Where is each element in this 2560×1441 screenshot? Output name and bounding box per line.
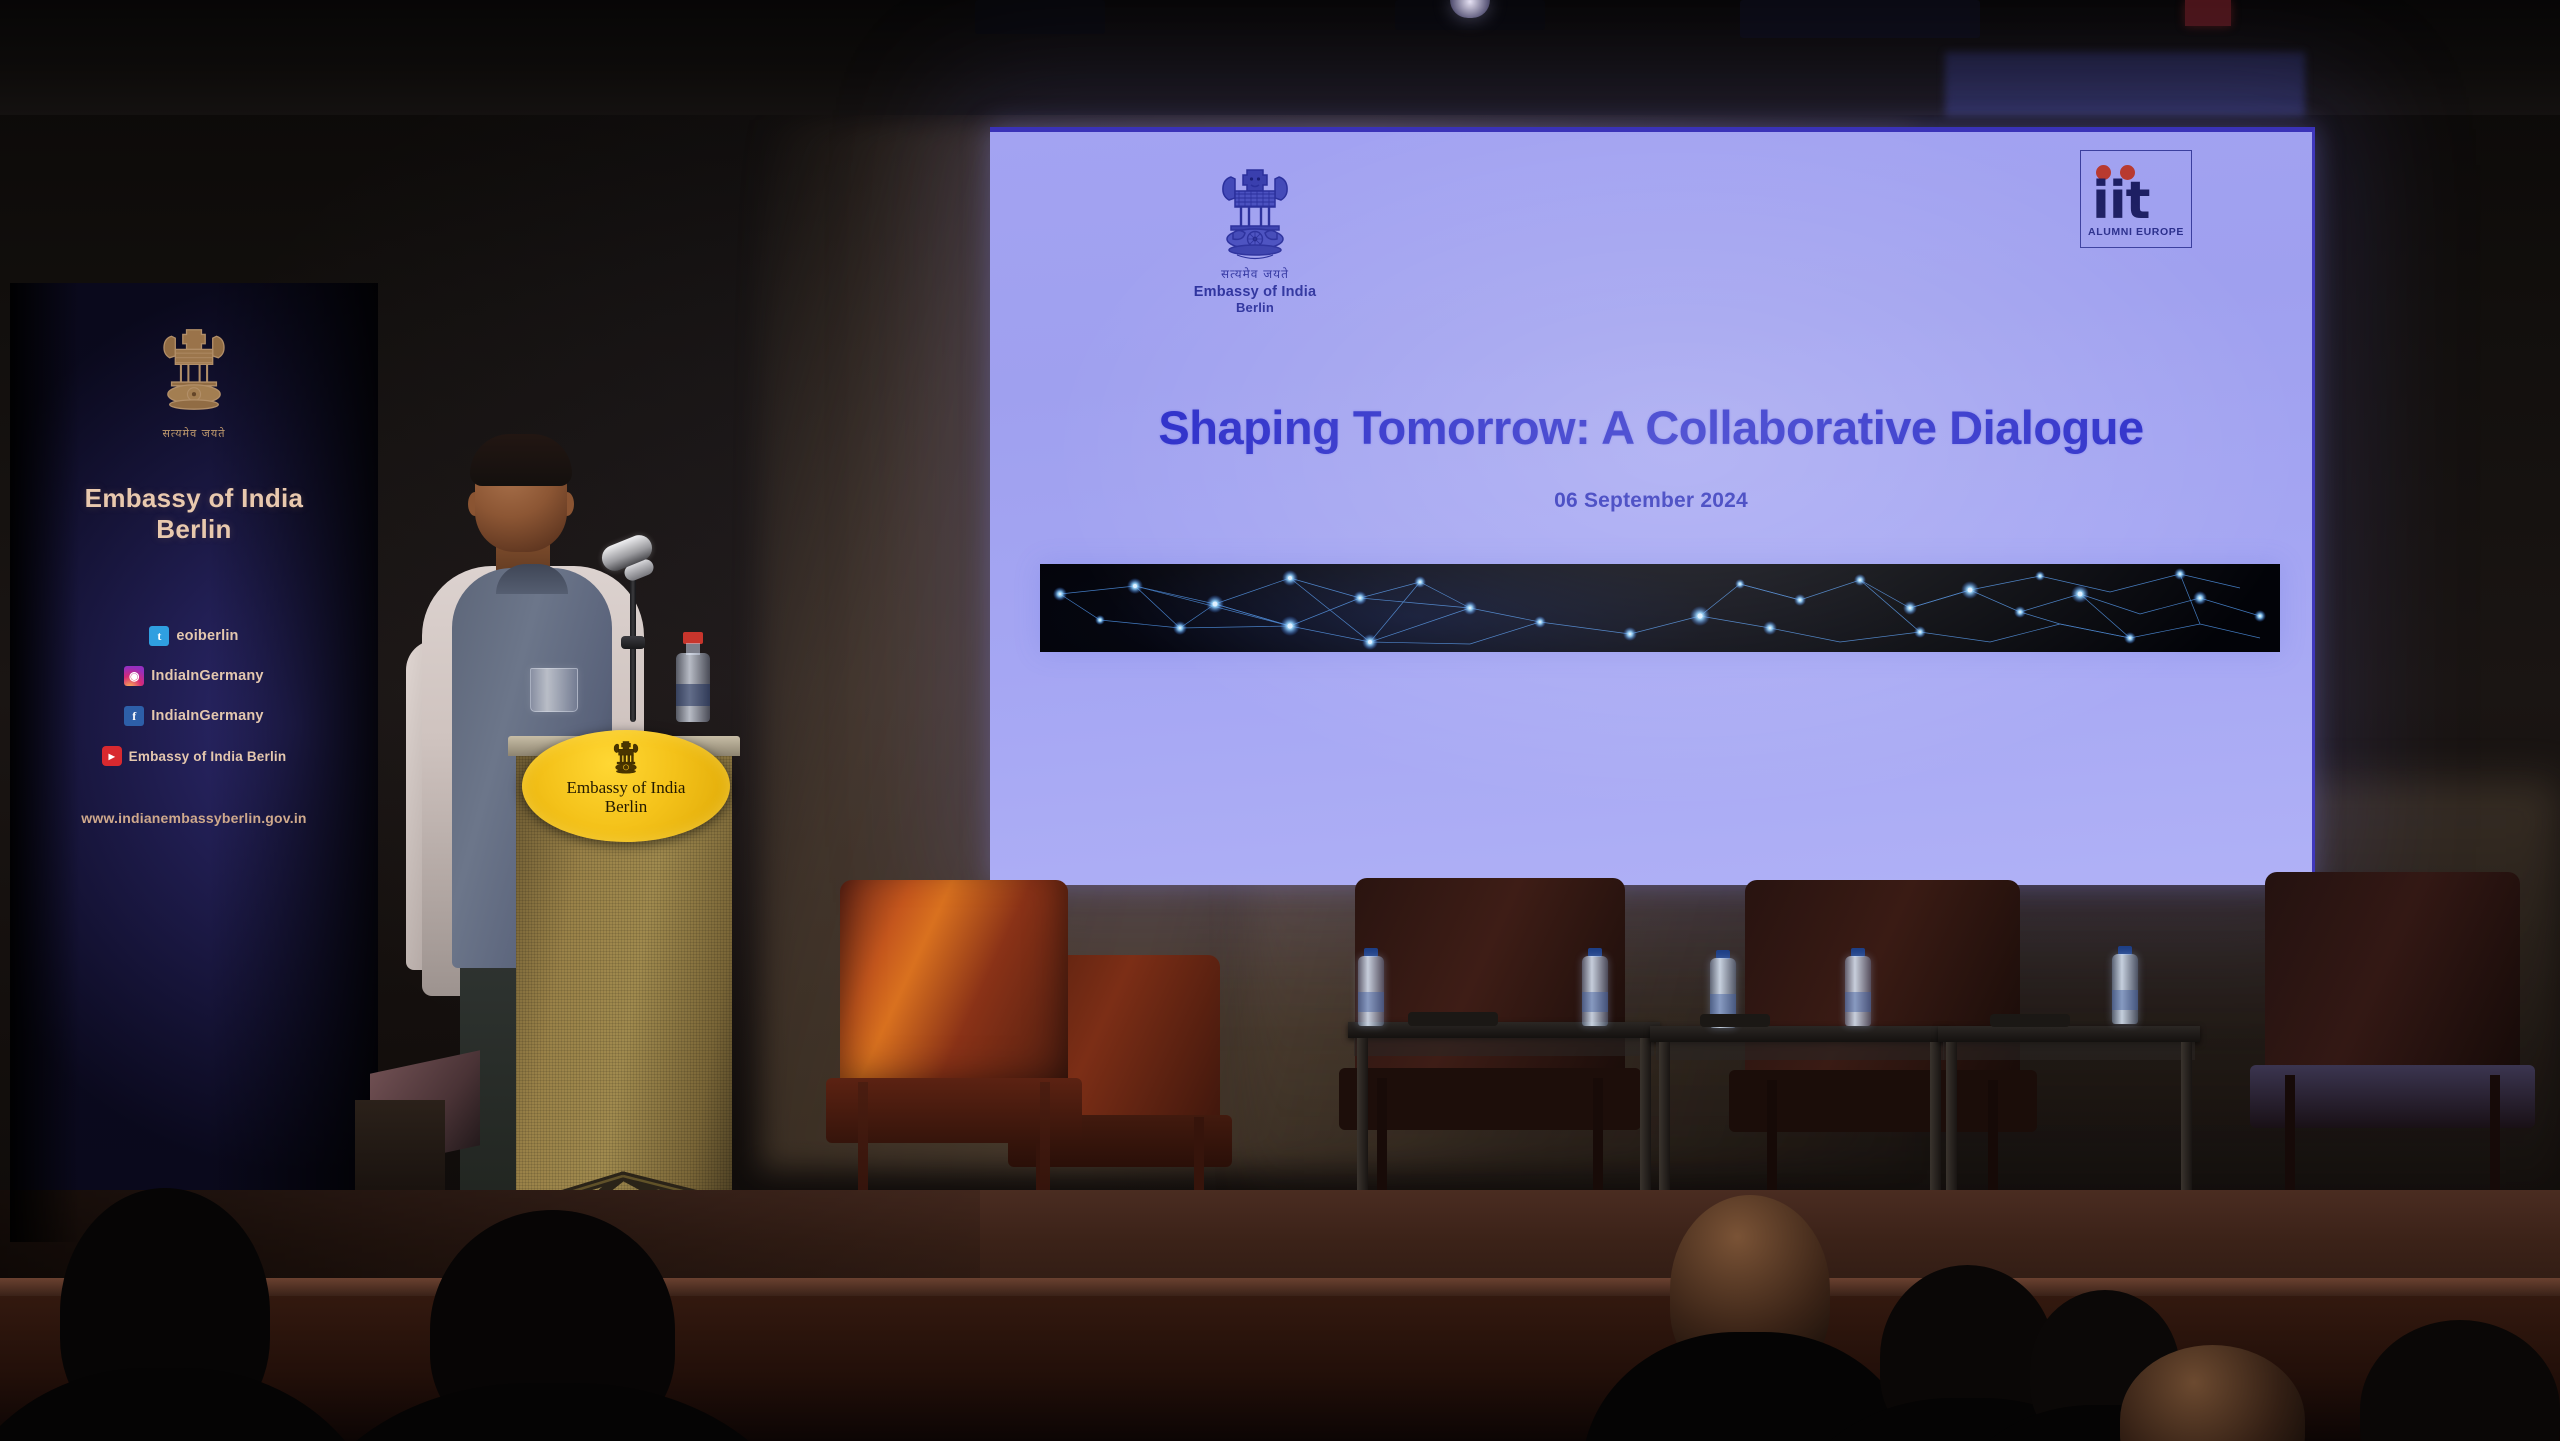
- iit-alumni-europe-logo: iit ALUMNI EUROPE: [2080, 150, 2192, 248]
- slide-title: Shaping Tomorrow: A Collaborative Dialog…: [990, 400, 2312, 455]
- slide-emblem-line1: Embassy of India: [1170, 284, 1340, 300]
- bottle-body: [1582, 956, 1608, 1026]
- table-item: [1700, 1014, 1770, 1027]
- bottle-label: [1710, 994, 1736, 1014]
- bottle-body: [2112, 954, 2138, 1024]
- stage-chair-highlighted: [840, 880, 1068, 1240]
- rollup-emblem-motto: सत्यमेव जयते: [10, 426, 378, 441]
- social-row-facebook: f IndiaInGermany: [124, 706, 263, 726]
- twitter-icon: t: [149, 626, 169, 646]
- ceiling-blue-panel: [1945, 52, 2305, 116]
- exit-light-icon: [2185, 0, 2231, 26]
- youtube-icon: ▶: [102, 746, 122, 766]
- plaque-line1: Embassy of India: [567, 778, 686, 798]
- bottle-label: [1582, 992, 1608, 1012]
- slide-emblem: सत्यमेव जयते Embassy of India Berlin: [1170, 160, 1340, 315]
- audience-silhouette: [1880, 1265, 2055, 1441]
- social-row-youtube: ▶ Embassy of India Berlin: [102, 746, 287, 766]
- table-item: [1408, 1012, 1498, 1026]
- water-bottle: [2112, 946, 2138, 1024]
- bottle-label: [2112, 990, 2138, 1010]
- social-handle-twitter: eoiberlin: [176, 628, 238, 644]
- rollup-title-line1: Embassy of India: [10, 483, 378, 514]
- iit-letters: iit: [2092, 178, 2150, 225]
- facebook-icon: f: [124, 706, 144, 726]
- chair-back: [840, 880, 1068, 1103]
- speaker-hair: [470, 434, 572, 486]
- panel-table: [1348, 1022, 1660, 1217]
- social-handle-youtube: Embassy of India Berlin: [129, 749, 287, 764]
- embassy-rollup-banner: सत्यमेव जयते Embassy of India Berlin t e…: [10, 283, 378, 1242]
- ashoka-lion-capital-icon: [609, 737, 643, 777]
- slide-date: 06 September 2024: [990, 489, 2312, 513]
- table-top: [1348, 1022, 1660, 1038]
- audience-silhouette: [430, 1210, 675, 1441]
- social-handle-facebook: IndiaInGermany: [151, 708, 263, 724]
- social-handle-instagram: IndiaInGermany: [151, 668, 263, 684]
- social-row-instagram: ◉ IndiaInGermany: [124, 666, 263, 686]
- table-top: [1650, 1026, 1950, 1042]
- table-item: [1990, 1014, 2070, 1027]
- table-top: [1938, 1026, 2200, 1042]
- panel-table: [1938, 1026, 2200, 1214]
- auditorium-scene: सत्यमेव जयते Embassy of India Berlin iit…: [0, 0, 2560, 1441]
- iit-wordmark: iit: [2092, 165, 2180, 225]
- table-apron: [1354, 1038, 1654, 1056]
- stage-chair: [2265, 872, 2520, 1222]
- audience-silhouette: [1670, 1195, 1830, 1385]
- microphone-clip: [621, 636, 645, 649]
- lectern: Embassy of India Berlin: [508, 692, 740, 1197]
- slide-emblem-line2: Berlin: [1170, 300, 1340, 315]
- projection-screen: सत्यमेव जयते Embassy of India Berlin iit…: [990, 127, 2315, 885]
- ashoka-lion-capital-icon: [151, 319, 237, 419]
- table-apron: [1943, 1042, 2195, 1060]
- bottle-label: [1358, 992, 1384, 1012]
- rollup-title-line2: Berlin: [10, 514, 378, 545]
- bottle-label: [1845, 992, 1871, 1012]
- bottle-body: [1845, 956, 1871, 1026]
- water-bottle: [1845, 948, 1871, 1026]
- chair-back: [2265, 872, 2520, 1089]
- lectern-plaque: Embassy of India Berlin: [522, 730, 730, 842]
- rollup-social-list: t eoiberlin ◉ IndiaInGermany f IndiaInGe…: [10, 626, 378, 766]
- plaque-line2: Berlin: [605, 798, 648, 815]
- table-apron: [1656, 1042, 1944, 1060]
- social-row-twitter: t eoiberlin: [149, 626, 238, 646]
- rollup-title: Embassy of India Berlin: [10, 483, 378, 544]
- slide-network-graphic: [1040, 564, 2280, 652]
- audience-silhouette: [60, 1188, 270, 1438]
- bottle-body: [1358, 956, 1384, 1026]
- ashoka-lion-capital-icon: [1209, 160, 1301, 264]
- ceiling-rig-fixture: [975, 0, 1105, 34]
- water-bottle: [1358, 948, 1384, 1026]
- rollup-website-url: www.indianembassyberlin.gov.in: [10, 810, 378, 826]
- ceiling-rig-fixture: [1740, 0, 1980, 38]
- instagram-icon: ◉: [124, 666, 144, 686]
- emblem-motto: सत्यमेव जयते: [1170, 265, 1340, 282]
- panel-table: [1650, 1026, 1950, 1216]
- water-bottle: [1582, 948, 1608, 1026]
